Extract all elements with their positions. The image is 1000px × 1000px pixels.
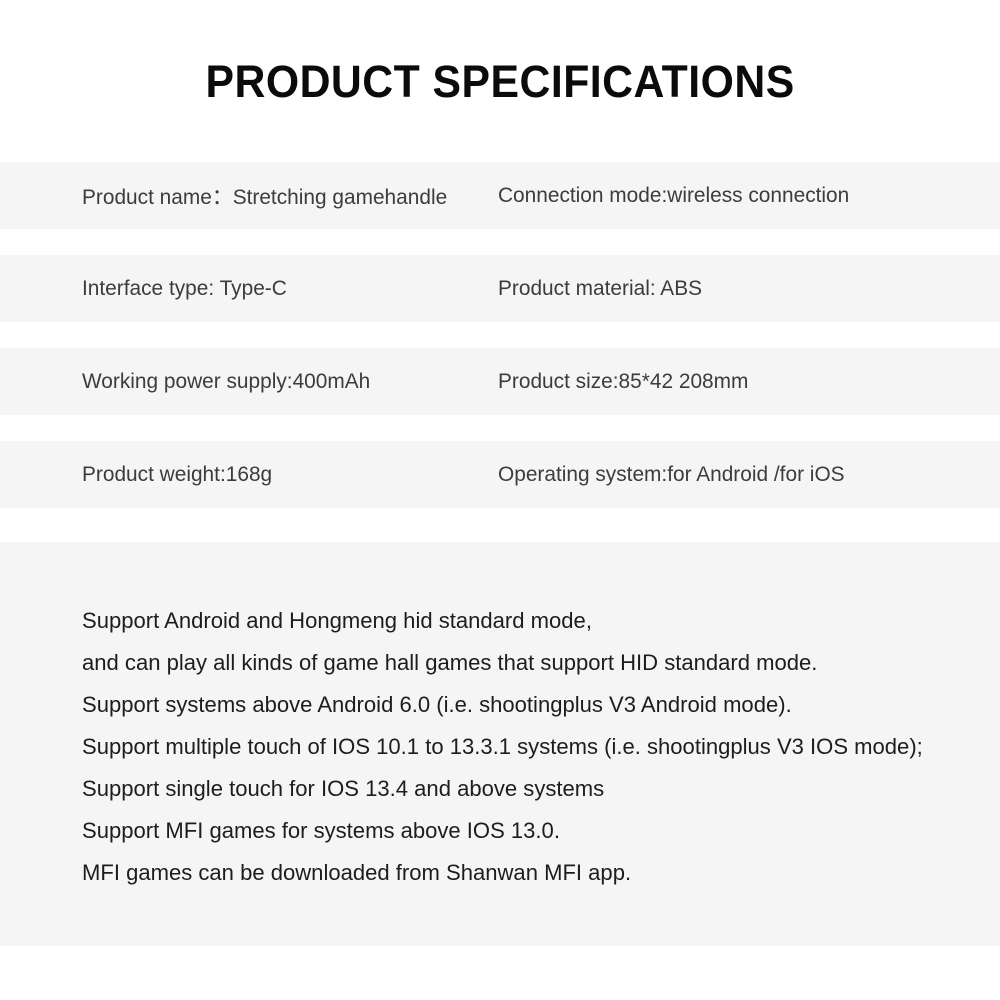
description-line: Support single touch for IOS 13.4 and ab… (82, 768, 982, 810)
spec-product-name: Product name：Stretching gamehandle (82, 180, 486, 211)
specification-table: Product name：Stretching gamehandle Conne… (0, 162, 1000, 534)
title-area: PRODUCT SPECIFICATIONS (0, 0, 1000, 162)
page-title: PRODUCT SPECIFICATIONS (205, 59, 794, 104)
description-line: Support MFI games for systems above IOS … (82, 810, 982, 852)
spec-connection-mode: Connection mode:wireless connection (498, 183, 964, 208)
spec-interface-type: Interface type: Type-C (82, 276, 486, 301)
description-line: MFI games can be downloaded from Shanwan… (82, 852, 982, 894)
description-line: Support multiple touch of IOS 10.1 to 13… (82, 726, 982, 768)
table-row: Product weight:168g Operating system:for… (0, 441, 1000, 508)
table-row: Interface type: Type-C Product material:… (0, 255, 1000, 322)
spec-working-power-supply: Working power supply:400mAh (82, 369, 486, 394)
description-line: Support Android and Hongmeng hid standar… (82, 600, 982, 642)
spec-product-material: Product material: ABS (498, 276, 964, 301)
spec-product-size: Product size:85*42 208mm (498, 369, 964, 394)
product-specifications-page: PRODUCT SPECIFICATIONS Product name：Stre… (0, 0, 1000, 1000)
spec-product-weight: Product weight:168g (82, 462, 486, 487)
spec-operating-system: Operating system:for Android /for iOS (498, 462, 964, 487)
compatibility-description-block: Support Android and Hongmeng hid standar… (0, 542, 1000, 946)
bottom-whitespace (0, 946, 1000, 1000)
description-line: Support systems above Android 6.0 (i.e. … (82, 684, 982, 726)
description-line: and can play all kinds of game hall game… (82, 642, 982, 684)
table-row: Product name：Stretching gamehandle Conne… (0, 162, 1000, 229)
table-row: Working power supply:400mAh Product size… (0, 348, 1000, 415)
